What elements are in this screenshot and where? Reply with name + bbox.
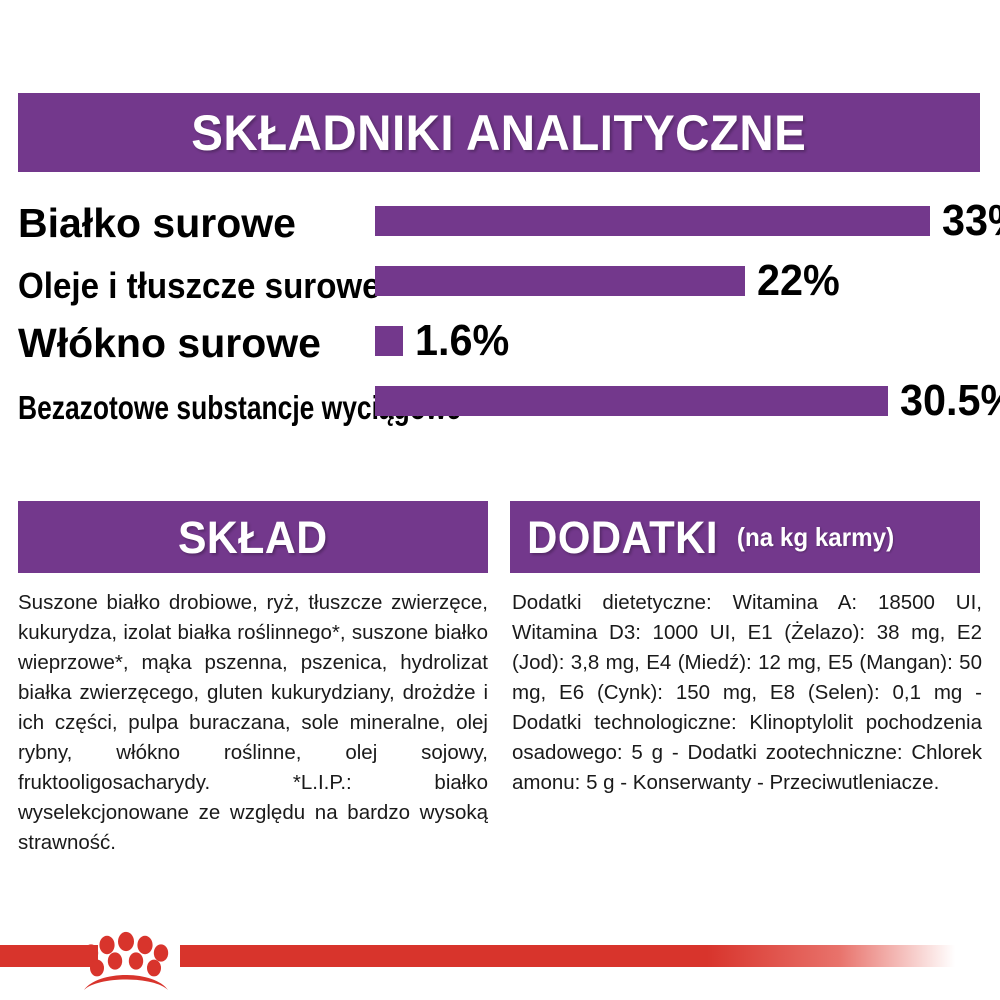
analytical-constituents-title: SKŁADNIKI ANALITYCZNE [191,108,806,158]
nutrient-label: Oleje i tłuszcze surowe [18,268,335,304]
nutrient-bar-wrap: 30.5% [375,386,980,416]
nutrient-bar [375,326,403,356]
composition-title: SKŁAD [178,515,328,560]
analytical-constituents-chart: Białko surowe 33% Oleje i tłuszcze surow… [18,190,980,430]
nutrient-value: 22% [757,259,840,303]
nutrient-bar [375,386,888,416]
nutrient-bar-wrap: 1.6% [375,326,980,356]
additives-title: DODATKI [527,515,718,560]
nutrient-row: Włókno surowe 1.6% [18,310,980,370]
nutrient-value: 33% [942,199,1000,243]
composition-banner: SKŁAD [18,501,488,573]
footer-brand-bar [0,930,1000,1000]
royal-canin-crown-logo [72,930,182,992]
analytical-constituents-banner: SKŁADNIKI ANALITYCZNE [18,93,980,172]
nutrient-bar [375,266,745,296]
nutrient-bar-wrap: 33% [375,206,980,236]
nutrient-row: Bezazotowe substancje wyciągowe 30.5% [18,370,980,430]
nutrient-value: 1.6% [415,319,509,363]
composition-text: Suszone białko drobiowe, ryż, tłuszcze z… [18,588,488,858]
additives-subtitle: (na kg karmy) [737,522,894,553]
additives-banner: DODATKI (na kg karmy) [510,501,980,573]
nutrient-label: Włókno surowe [18,323,363,364]
nutrient-bar [375,206,930,236]
nutrient-row: Oleje i tłuszcze surowe 22% [18,250,980,310]
additives-text: Dodatki dietetyczne: Witamina A: 18500 U… [512,588,982,798]
footer-red-bar-right [180,945,955,967]
nutrient-bar-wrap: 22% [375,266,980,296]
nutrient-row: Białko surowe 33% [18,190,980,250]
nutrient-label: Bezazotowe substancje wyciągowe [18,391,294,424]
nutrient-label: Białko surowe [18,203,363,244]
nutrient-value: 30.5% [900,379,1000,423]
